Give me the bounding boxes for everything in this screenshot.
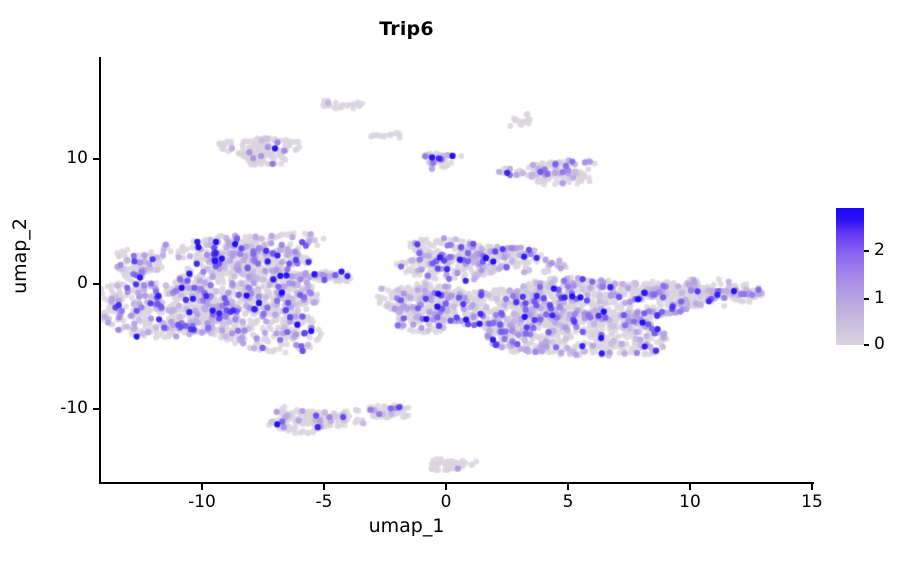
colorbar-gradient bbox=[836, 208, 864, 345]
x-tick-label: 15 bbox=[782, 492, 842, 512]
x-tick-label: 5 bbox=[538, 492, 598, 512]
x-axis-spine bbox=[99, 482, 814, 484]
x-tick-mark bbox=[811, 484, 813, 490]
x-tick-label: -10 bbox=[172, 492, 232, 512]
colorbar-tick-mark bbox=[864, 250, 869, 252]
x-tick-mark bbox=[201, 484, 203, 490]
scatter-clip-region bbox=[100, 58, 813, 483]
x-tick-mark bbox=[445, 484, 447, 490]
x-axis-label: umap_1 bbox=[0, 515, 813, 537]
y-axis-spine bbox=[99, 57, 101, 484]
plot-title: Trip6 bbox=[0, 18, 813, 40]
y-tick-label: -10 bbox=[28, 398, 88, 418]
colorbar-tick-mark bbox=[864, 298, 869, 300]
umap-scatter-points bbox=[100, 58, 813, 483]
y-tick-mark bbox=[93, 408, 99, 410]
plot-axes-area bbox=[100, 58, 813, 483]
colorbar: 2 1 0 bbox=[836, 208, 906, 348]
x-tick-label: 0 bbox=[416, 492, 476, 512]
figure-canvas: Trip6 -10 -5 0 5 10 15 10 0 -10 umap_1 u… bbox=[0, 0, 911, 562]
colorbar-tick-label: 0 bbox=[874, 334, 885, 354]
colorbar-tick-label: 1 bbox=[874, 288, 885, 308]
y-tick-mark bbox=[93, 158, 99, 160]
colorbar-tick-label: 2 bbox=[874, 240, 885, 260]
y-axis-label: umap_2 bbox=[9, 136, 31, 376]
colorbar-tick-mark bbox=[864, 344, 869, 346]
y-tick-mark bbox=[93, 283, 99, 285]
y-tick-label: 10 bbox=[28, 148, 88, 168]
y-tick-label: 0 bbox=[28, 273, 88, 293]
x-tick-mark bbox=[689, 484, 691, 490]
x-tick-mark bbox=[567, 484, 569, 490]
x-tick-mark bbox=[323, 484, 325, 490]
x-tick-label: 10 bbox=[660, 492, 720, 512]
x-tick-label: -5 bbox=[294, 492, 354, 512]
